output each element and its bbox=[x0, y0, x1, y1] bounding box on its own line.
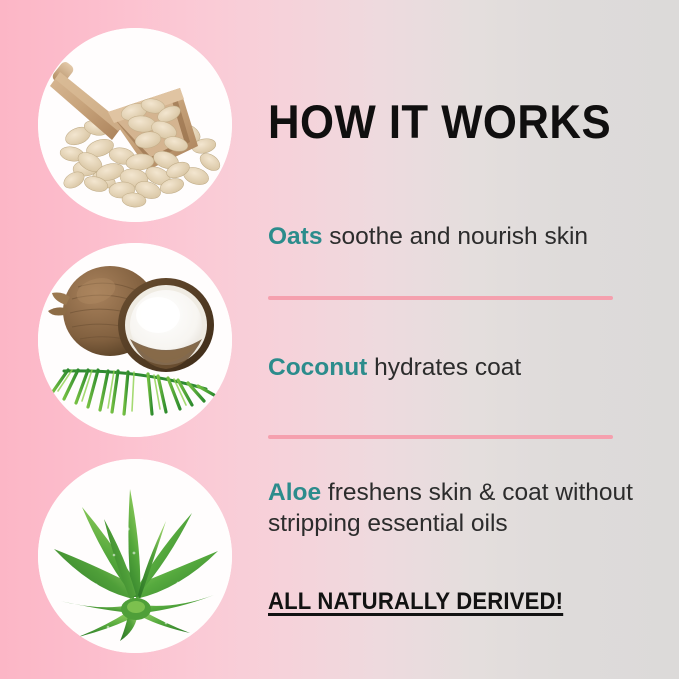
benefit-keyword-oats: Oats bbox=[268, 223, 322, 250]
divider-2 bbox=[268, 435, 613, 439]
benefit-oats: Oats soothe and nourish skin bbox=[268, 221, 588, 252]
ingredient-image-aloe bbox=[38, 459, 232, 653]
page-title: HOW IT WORKS bbox=[268, 96, 611, 148]
coconut-photo bbox=[38, 243, 232, 437]
ingredient-image-coconut bbox=[38, 243, 232, 437]
oats-scoop-photo bbox=[38, 28, 232, 222]
benefit-coconut: Coconut hydrates coat bbox=[268, 352, 521, 383]
benefit-description-oats: soothe and nourish skin bbox=[322, 223, 588, 250]
divider-1 bbox=[268, 296, 613, 300]
tagline: ALL NATURALLY DERIVED! bbox=[268, 587, 563, 617]
ingredient-image-oats bbox=[38, 28, 232, 222]
how-it-works-infographic: HOW IT WORKS Oats soothe and nourish ski… bbox=[0, 0, 679, 679]
content-column: HOW IT WORKS Oats soothe and nourish ski… bbox=[266, 0, 666, 679]
benefit-description-coconut: hydrates coat bbox=[367, 354, 521, 381]
benefit-keyword-aloe: Aloe bbox=[268, 479, 321, 506]
aloe-vera-photo bbox=[38, 459, 232, 653]
benefit-keyword-coconut: Coconut bbox=[268, 354, 367, 381]
benefit-aloe: Aloe freshens skin & coat without stripp… bbox=[268, 477, 658, 539]
benefit-description-aloe: freshens skin & coat without stripping e… bbox=[268, 479, 633, 537]
